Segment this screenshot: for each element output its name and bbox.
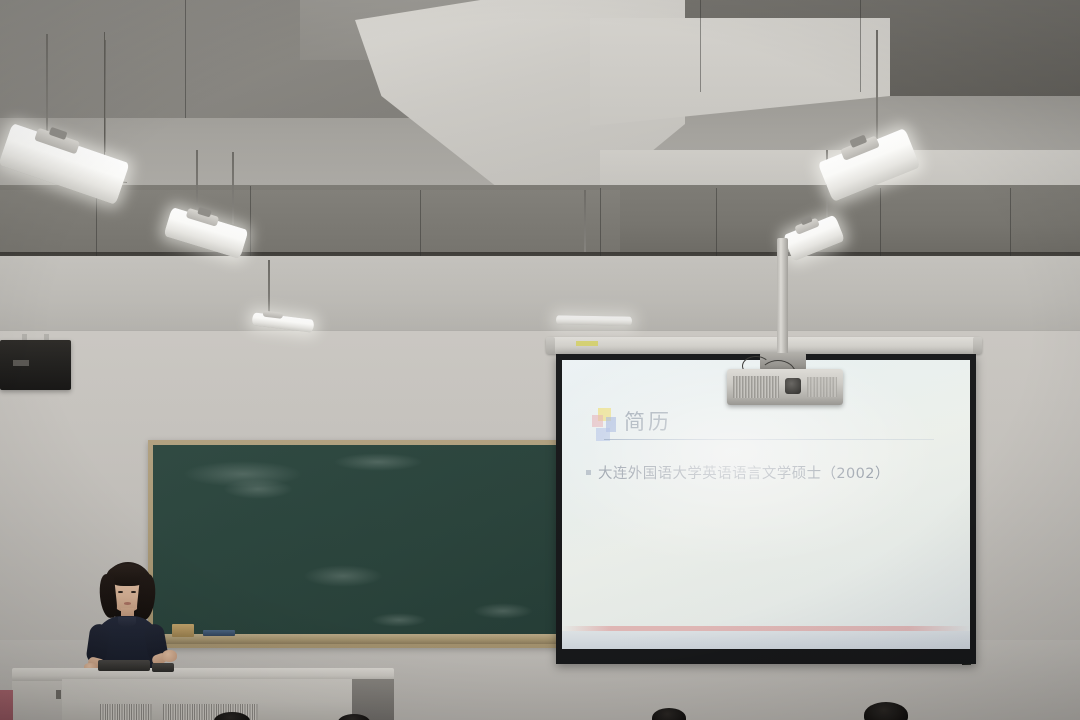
slide-bullet-text: 大连外国语大学英语语言文学硕士（2002） [598,462,890,483]
teaching-desk-left-panel [12,681,62,720]
projector-side-panel [807,377,837,397]
light-hanger-rod [876,30,878,148]
light-tube [556,315,632,325]
projector-drop-pole [777,238,788,356]
chalk-smudge [371,613,427,627]
eye [118,591,123,593]
ceiling-panel-seam [1010,188,1011,256]
chalk-smudge [303,565,383,587]
classroom-photo-scene: 简历 大连外国语大学英语语言文学硕士（2002） [0,0,1080,720]
projector-lens [785,378,801,394]
projector-vent-grille [733,376,779,398]
suspended-light-distant [556,315,632,325]
right-hand [162,650,177,662]
ceiling-panel-seam [716,188,717,256]
chalk-smudge [223,479,293,499]
pink-square-icon [592,415,603,427]
hair-right-strand [136,573,158,621]
light-hanger-rod [268,260,270,314]
ceiling-lower-panel [0,256,1080,332]
desk-ventilation-grille [100,704,152,720]
slide-logo-icon [592,408,618,442]
eye [131,591,136,593]
chalk-smudge [473,603,533,619]
ceiling-panel-seam [880,188,881,256]
slide-bullet-item: 大连外国语大学英语语言文学硕士（2002） [586,462,958,483]
ceiling-panel-seam [700,0,701,92]
ceiling-mounted-projector [727,369,843,405]
ceiling-panel-seam [185,0,186,118]
light-hanger-rod [584,190,586,252]
wall-ceiling-joint [0,330,1080,331]
blouse-collar [118,617,136,627]
housing-end-cap [546,337,555,354]
chalkboard-surface [153,445,561,635]
slide-title: 简历 [624,406,672,436]
wall-mounted-speaker [0,340,71,390]
ceiling-panel-seam [420,190,421,256]
bullet-marker-icon [586,470,591,475]
blue-tray-item [203,630,235,636]
chalkboard-frame [148,440,566,648]
slide-title-rule [604,439,934,440]
desk-control-equipment[interactable] [98,660,150,671]
ceiling-panel-seam [250,186,251,256]
slide-bottom-wash [562,631,970,649]
desk-microphone-base[interactable] [152,663,174,672]
desk-handle[interactable] [56,690,61,699]
chalk-smudge [183,461,303,487]
ceiling-panel-seam [600,188,601,256]
screen-roller-housing[interactable] [546,337,982,354]
speaker-brand-logo [13,360,29,366]
mouth [124,602,131,605]
light-hanger-rod [232,152,234,224]
chalk-smudge [333,453,423,471]
housing-end-cap [973,337,982,354]
ceiling-beam-band-left [0,190,620,256]
housing-sticker [576,341,598,346]
desk-side-accent [0,690,13,720]
ceiling-panel-seam [860,0,861,92]
